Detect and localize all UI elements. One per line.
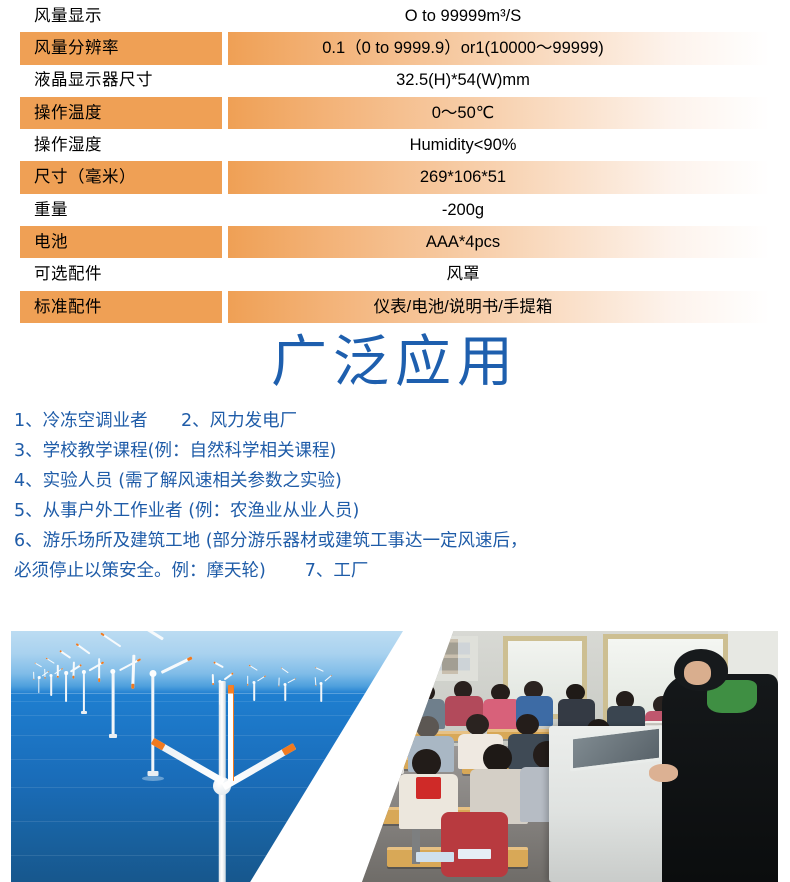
wind-turbine-icon (311, 676, 331, 702)
classroom-teaching-photo (362, 631, 778, 882)
table-row: 尺寸（毫米） 269*106*51 (20, 161, 770, 193)
spec-label: 尺寸（毫米） (20, 161, 222, 193)
spec-label: 重量 (20, 194, 222, 226)
list-item: 3、学校教学课程(例：自然科学相关课程) (14, 436, 784, 466)
table-row: 标准配件 仪表/电池/说明书/手提箱 (20, 291, 770, 323)
page-title: 广泛应用 (0, 331, 790, 395)
list-item: 6、游乐场所及建筑工地 (部分游乐器材或建筑工事达一定风速后， (14, 526, 784, 556)
table-row: 电池 AAA*4pcs (20, 226, 770, 258)
spec-label: 电池 (20, 226, 222, 258)
spec-label: 风量显示 (20, 0, 222, 32)
product-detail-page: 风量显示 O to 99999m³/S 风量分辨率 0.1（0 to 9999.… (0, 0, 790, 882)
spec-value: Humidity<90% (228, 129, 770, 161)
photo-strip (11, 631, 778, 882)
table-row: 操作湿度 Humidity<90% (20, 129, 770, 161)
table-row: 风量分辨率 0.1（0 to 9999.9）or1(10000～99999) (20, 32, 770, 64)
spec-value: -200g (228, 194, 770, 226)
wind-turbine-icon (207, 673, 233, 705)
application-list: 1、冷冻空调业者 2、风力发电厂 3、学校教学课程(例：自然科学相关课程) 4、… (14, 406, 784, 586)
spec-value: 269*106*51 (228, 161, 770, 193)
offshore-wind-farm-photo (11, 631, 403, 882)
table-row: 重量 -200g (20, 194, 770, 226)
spec-value: O to 99999m³/S (228, 0, 770, 32)
spec-value: AAA*4pcs (228, 226, 770, 258)
spec-value: 0.1（0 to 9999.9）or1(10000～99999) (228, 32, 770, 64)
spec-label: 标准配件 (20, 291, 222, 323)
spec-label: 操作湿度 (20, 129, 222, 161)
list-item: 4、实验人员 (需了解风速相关参数之实验) (14, 466, 784, 496)
table-row: 操作温度 0～50℃ (20, 97, 770, 129)
spec-value: 仪表/电池/说明书/手提箱 (228, 291, 770, 323)
specification-table: 风量显示 O to 99999m³/S 风量分辨率 0.1（0 to 9999.… (20, 0, 770, 323)
spec-label: 可选配件 (20, 258, 222, 290)
list-item: 1、冷冻空调业者 2、风力发电厂 (14, 406, 784, 436)
spec-label: 操作温度 (20, 97, 222, 129)
list-item: 必须停止以策安全。例：摩天轮) 7、工厂 (14, 556, 784, 586)
spec-label: 液晶显示器尺寸 (20, 65, 222, 97)
spec-label: 风量分辨率 (20, 32, 222, 64)
list-item: 5、从事户外工作业者 (例：农渔业从业人员) (14, 496, 784, 526)
table-row: 可选配件 风罩 (20, 258, 770, 290)
spec-value: 32.5(H)*54(W)mm (228, 65, 770, 97)
table-row: 风量显示 O to 99999m³/S (20, 0, 770, 32)
spec-value: 风罩 (228, 258, 770, 290)
table-row: 液晶显示器尺寸 32.5(H)*54(W)mm (20, 65, 770, 97)
spec-value: 0～50℃ (228, 97, 770, 129)
